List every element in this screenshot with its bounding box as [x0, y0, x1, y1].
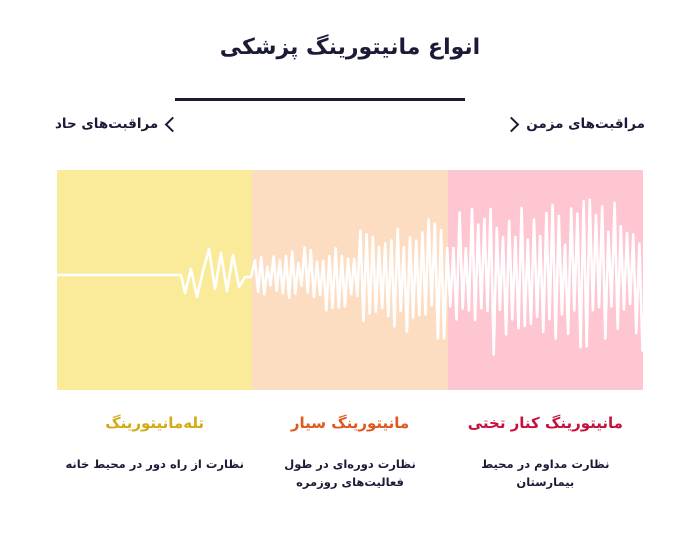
caption-body-bedside: نظارت مداوم در محیط بیمارستان [454, 455, 637, 493]
panel-captions: مانیتورینگ کنار تختی نظارت مداوم در محیط… [57, 412, 643, 492]
medical-monitoring-infographic: انواع مانیتورینگ پزشکی مراقبت‌های مزمن م… [0, 0, 700, 552]
panel-tele [57, 170, 252, 390]
axis-label-chronic-care: مراقبت‌های مزمن [506, 116, 645, 132]
caption-col-tele: تله‌مانیتورینگ نظارت از راه دور در محیط … [57, 412, 252, 492]
axis-label-chronic-care-text: مراقبت‌های مزمن [526, 116, 645, 132]
axis-label-acute-care: مراقبت‌های حاد [55, 116, 178, 132]
title-divider-rule [175, 98, 465, 101]
chevron-right-icon [504, 116, 520, 132]
caption-heading-mobile: مانیتورینگ سیار [258, 412, 441, 435]
page-title: انواع مانیتورینگ پزشکی [0, 33, 700, 63]
care-spectrum-axis: مراقبت‌های مزمن مراقبت‌های حاد [55, 116, 645, 140]
chevron-left-icon [165, 116, 181, 132]
caption-heading-bedside: مانیتورینگ کنار تختی [454, 412, 637, 435]
monitoring-spectrum-band [57, 170, 643, 390]
caption-body-mobile: نظارت دوره‌ای در طول فعالیت‌های روزمره [258, 455, 441, 493]
caption-body-tele: نظارت از راه دور در محیط خانه [63, 455, 246, 474]
panel-mobile [252, 170, 447, 390]
axis-label-acute-care-text: مراقبت‌های حاد [55, 116, 158, 132]
panel-bedside [448, 170, 643, 390]
caption-col-mobile: مانیتورینگ سیار نظارت دوره‌ای در طول فعا… [252, 412, 447, 492]
caption-col-bedside: مانیتورینگ کنار تختی نظارت مداوم در محیط… [448, 412, 643, 492]
caption-heading-tele: تله‌مانیتورینگ [63, 412, 246, 435]
